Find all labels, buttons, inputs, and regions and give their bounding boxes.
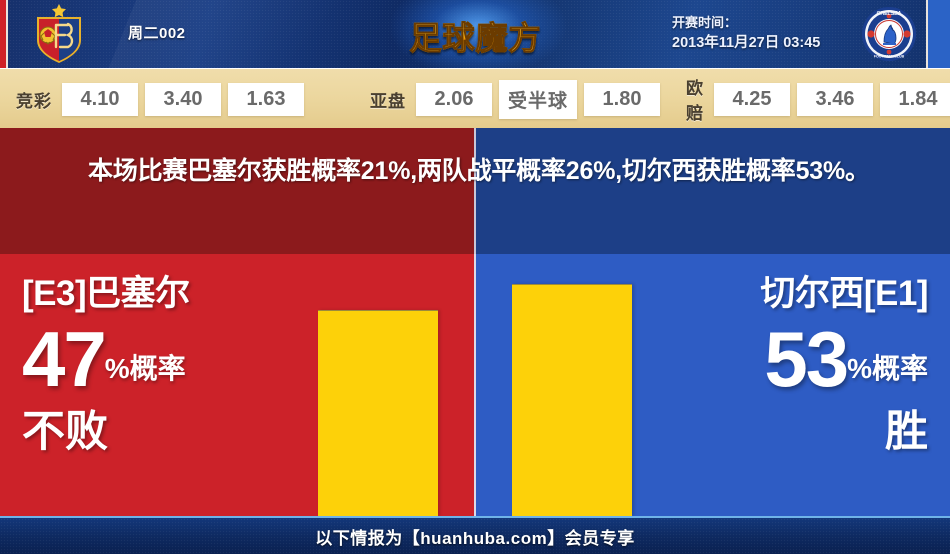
team-name-away: 切尔西[E1] [760,272,928,316]
euro-cell-draw[interactable]: 3.46 [797,83,873,116]
site-brand-logo: 足球魔方 [398,6,553,62]
percent-value-home: 47 [22,318,105,400]
odds-group-oupei: 欧赔 4.25 3.46 1.84 [686,69,950,129]
bar-away [512,284,632,516]
handicap-cell-away[interactable]: 1.80 [584,83,660,116]
odds-cell-home[interactable]: 4.10 [62,83,138,116]
odds-group-label: 亚盘 [370,87,406,112]
kickoff-time: 2013年11月27日 03:45 [672,33,820,54]
odds-group-label: 竞彩 [16,87,52,112]
kickoff-label: 开赛时间： [672,12,820,33]
match-number: 周二002 [128,22,186,43]
percent-value-away: 53 [764,318,847,400]
percent-row-home: 47 %概率 [22,318,190,400]
odds-cell-draw[interactable]: 3.40 [145,83,221,116]
team-block-away: 切尔西[E1] 53 %概率 胜 [760,272,928,458]
svg-text:FOOTBALL CLUB: FOOTBALL CLUB [874,55,905,59]
match-header: 周二002 足球魔方 开赛时间： 2013年11月27日 03:45 CHELS… [0,0,950,68]
bar-home [318,310,438,516]
match-probability-graphic: 周二002 足球魔方 开赛时间： 2013年11月27日 03:45 CHELS… [0,0,950,552]
brand-text: 足球魔方 [398,13,553,59]
outcome-home: 不败 [22,406,190,458]
odds-group-label: 欧赔 [686,74,704,124]
header-right-accent-strip [928,0,950,68]
team-name-home: [E3]巴塞尔 [22,272,190,316]
header-right-accent-edge [926,0,928,68]
odds-group-jingcai: 竞彩 4.10 3.40 1.63 [16,69,304,129]
team-block-home: [E3]巴塞尔 47 %概率 不败 [22,272,190,458]
chart-divider [474,254,476,516]
summary-text: 本场比赛巴塞尔获胜概率21%,两队战平概率26%,切尔西获胜概率53%。 [88,150,878,192]
header-left-accent-edge [6,0,8,68]
chelsea-crest-icon: CHELSEA FOOTBALL CLUB [860,6,918,62]
percent-unit-away: %概率 [847,346,928,400]
odds-group-yapan: 亚盘 2.06 受半球 1.80 [370,69,660,129]
handicap-cell-home[interactable]: 2.06 [416,83,492,116]
summary-band: 本场比赛巴塞尔获胜概率21%,两队战平概率26%,切尔西获胜概率53%。 [0,128,950,254]
outcome-away: 胜 [760,406,928,458]
percent-row-away: 53 %概率 [760,318,928,400]
svg-text:CHELSEA: CHELSEA [877,11,902,17]
euro-cell-home[interactable]: 4.25 [714,83,790,116]
odds-cell-away[interactable]: 1.63 [228,83,304,116]
euro-cell-away[interactable]: 1.84 [880,83,950,116]
basel-crest-icon [28,4,90,64]
odds-bar: 竞彩 4.10 3.40 1.63 亚盘 2.06 受半球 1.80 欧赔 4.… [0,68,950,129]
percent-unit-home: %概率 [105,346,186,400]
handicap-cell-line[interactable]: 受半球 [499,80,577,119]
member-notice-bar: 以下情报为【huanhuba.com】会员专享 [0,516,950,554]
kickoff-block: 开赛时间： 2013年11月27日 03:45 [672,12,820,54]
probability-chart: [E3]巴塞尔 47 %概率 不败 切尔西[E1] 53 %概率 胜 [0,254,950,516]
footer-text: 以下情报为【huanhuba.com】会员专享 [0,518,950,554]
